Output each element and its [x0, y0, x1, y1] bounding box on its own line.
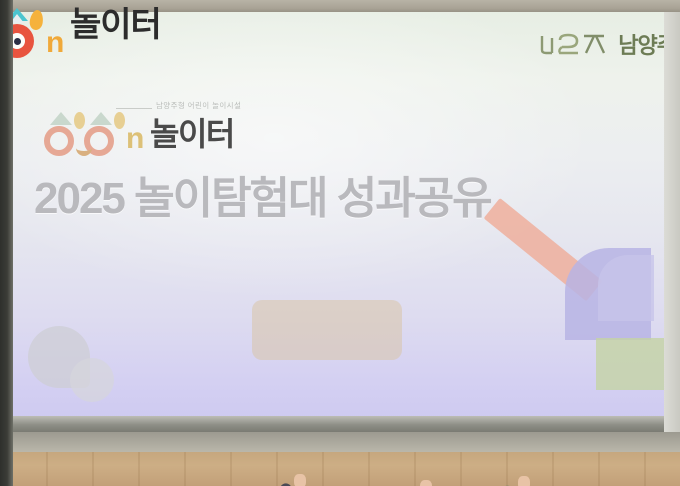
- pip-icon-2: [114, 112, 125, 129]
- namyangju-mark-icon: [538, 30, 612, 58]
- leaf-icon: [29, 9, 45, 31]
- pip-icon-1: [74, 112, 85, 129]
- slide-brand-logo: 남양주형 어린이 놀이시설 n 놀이터: [38, 100, 298, 158]
- people-group: [0, 236, 680, 486]
- brow-icon-2: [90, 112, 112, 125]
- right-wall-edge: [664, 12, 680, 432]
- header-logo-right: 남양주: [538, 28, 676, 60]
- slide-logo-letter-n: n: [126, 124, 144, 154]
- brow-icon-1: [50, 112, 72, 125]
- tagline-rule: [116, 108, 152, 109]
- smile-icon: [76, 148, 92, 156]
- slide-tagline: 남양주형 어린이 놀이시설: [156, 100, 241, 111]
- logo-letter-n: n: [46, 28, 64, 58]
- header-logo-left-word: 놀이터: [70, 8, 161, 42]
- group-photo: n 놀이터 남양주 남양주형 어린이 놀이시설 n 놀이터 2025 놀이탐험대…: [0, 0, 680, 486]
- slide-title: 2025 놀이탐험대 성과공유: [34, 176, 491, 222]
- eye-pupil-icon: [14, 38, 21, 45]
- left-wall-edge: [0, 0, 13, 486]
- slide-logo-word: 놀이터: [150, 118, 234, 150]
- face-circle-icon-1: [44, 126, 74, 156]
